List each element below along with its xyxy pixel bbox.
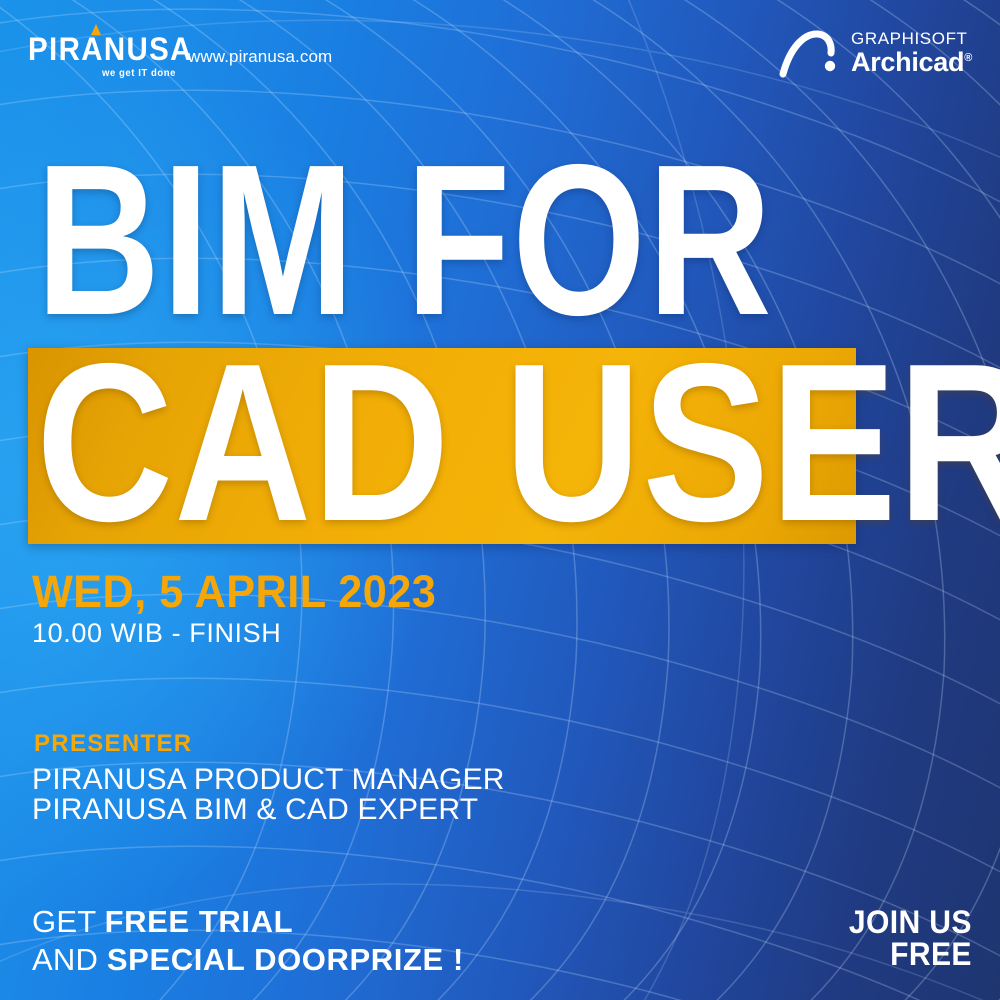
presenter-name-2: PIRANUSA BIM & CAD EXPERT	[32, 793, 478, 827]
presenter-label: PRESENTER	[34, 730, 192, 758]
cta-row-2-light: AND	[32, 942, 98, 977]
piranusa-tagline: we get IT done	[35, 68, 176, 79]
cta-row-2-bold: SPECIAL DOORPRIZE !	[107, 942, 464, 977]
archicad-product-name: Archicad®	[851, 49, 972, 76]
presenter-name-1: PIRANUSA PRODUCT MANAGER	[32, 763, 505, 797]
poster-header: PIRANUSA we get IT done www.piranusa.com…	[0, 0, 1000, 110]
event-date: WED, 5 APRIL 2023	[32, 566, 436, 618]
headline-line-1: BIM FOR	[36, 140, 773, 340]
cta-row-1-bold: FREE TRIAL	[105, 904, 294, 939]
event-time: 10.00 WIB - FINISH	[32, 618, 281, 649]
headline-line-2: CAD USERS	[36, 336, 1000, 548]
archicad-text-block: GRAPHISOFT Archicad®	[851, 30, 972, 76]
join-us-line-2: FREE	[849, 938, 972, 970]
graphisoft-arc-icon	[778, 28, 840, 78]
cta-row-2: AND SPECIAL DOORPRIZE !	[32, 941, 464, 979]
registered-trademark-icon: ®	[964, 52, 972, 64]
piranusa-wordmark: PIRANUSA	[28, 33, 164, 65]
cta-row-1: GET FREE TRIAL	[32, 903, 464, 941]
cta-block: GET FREE TRIAL AND SPECIAL DOORPRIZE !	[32, 903, 464, 979]
piranusa-logo[interactable]: PIRANUSA we get IT done	[28, 33, 176, 79]
join-us-free-badge[interactable]: JOIN US FREE	[841, 906, 972, 970]
graphisoft-archicad-logo[interactable]: GRAPHISOFT Archicad®	[778, 28, 972, 78]
join-us-line-1: JOIN US	[849, 906, 972, 938]
archicad-label: Archicad	[851, 47, 964, 77]
cta-row-1-light: GET	[32, 904, 96, 939]
website-url[interactable]: www.piranusa.com	[188, 47, 332, 67]
promo-poster: PIRANUSA we get IT done www.piranusa.com…	[0, 0, 1000, 1000]
graphisoft-company-name: GRAPHISOFT	[851, 30, 972, 47]
